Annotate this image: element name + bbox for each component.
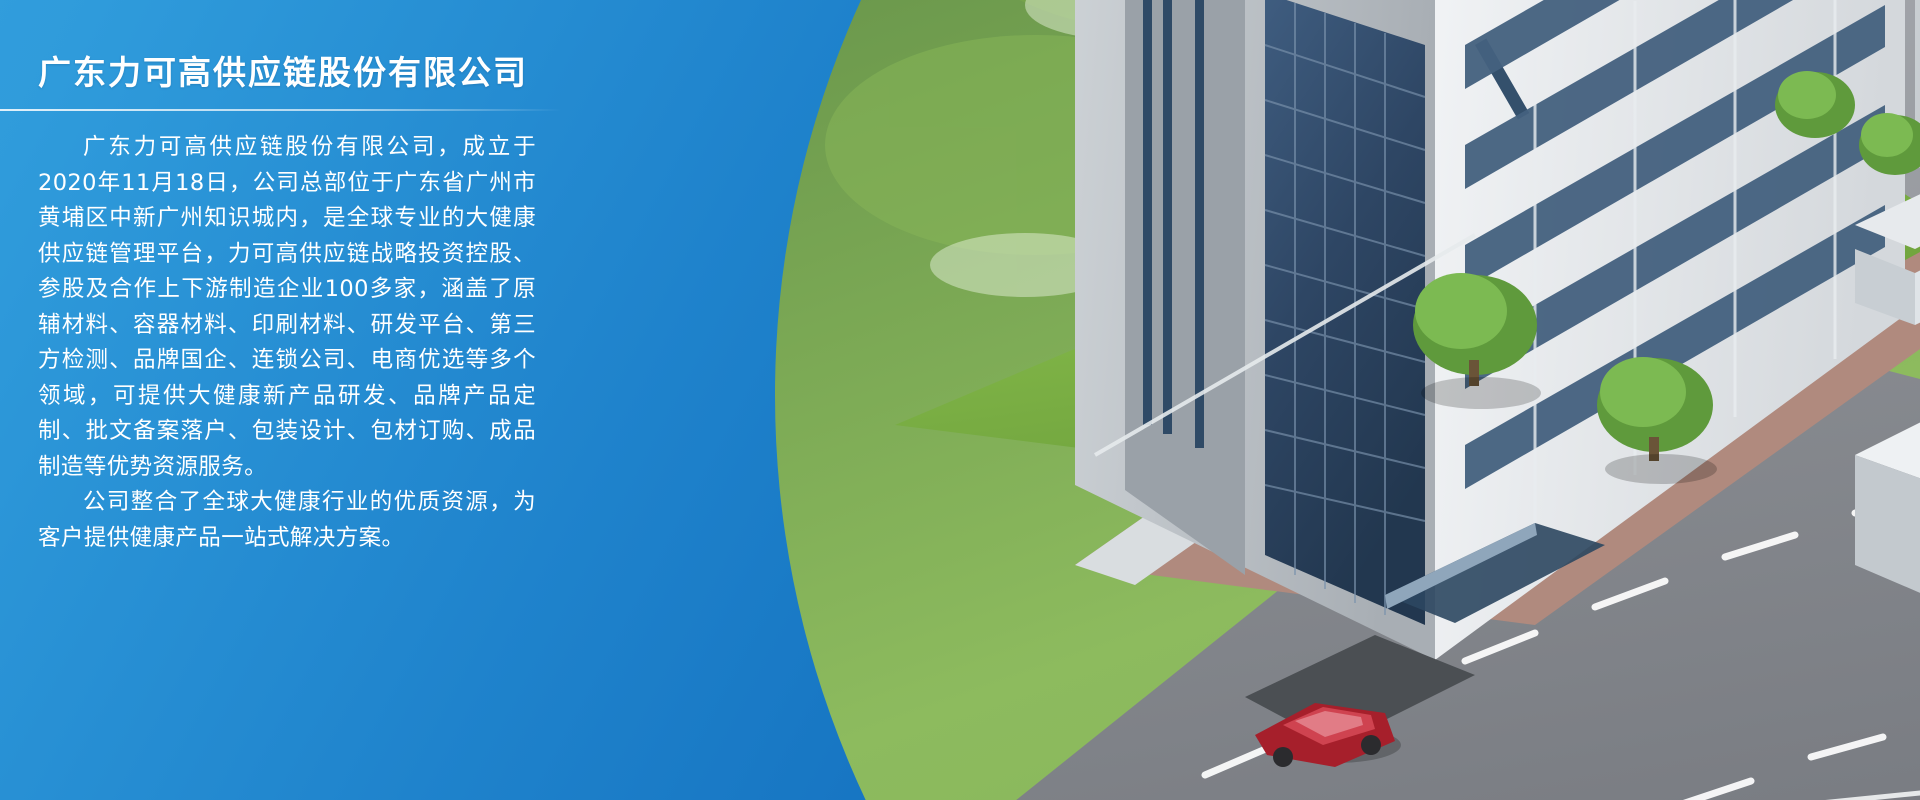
intro-text-column: 广东力可高供应链股份有限公司 广东力可高供应链股份有限公司，成立于2020年11…: [0, 0, 620, 800]
intro-paragraph-1: 广东力可高供应链股份有限公司，成立于2020年11月18日，公司总部位于广东省广…: [38, 130, 536, 485]
banner-stage: 广东力可高供应链股份有限公司 广东力可高供应链股份有限公司，成立于2020年11…: [0, 0, 1920, 800]
intro-paragraph-2: 公司整合了全球大健康行业的优质资源，为客户提供健康产品一站式解决方案。: [38, 485, 536, 556]
aerial-campus-rendering: [775, 0, 1920, 800]
campus-photo-circle: [775, 0, 1920, 800]
page-title: 广东力可高供应链股份有限公司: [34, 52, 560, 109]
title-divider: [0, 109, 562, 111]
